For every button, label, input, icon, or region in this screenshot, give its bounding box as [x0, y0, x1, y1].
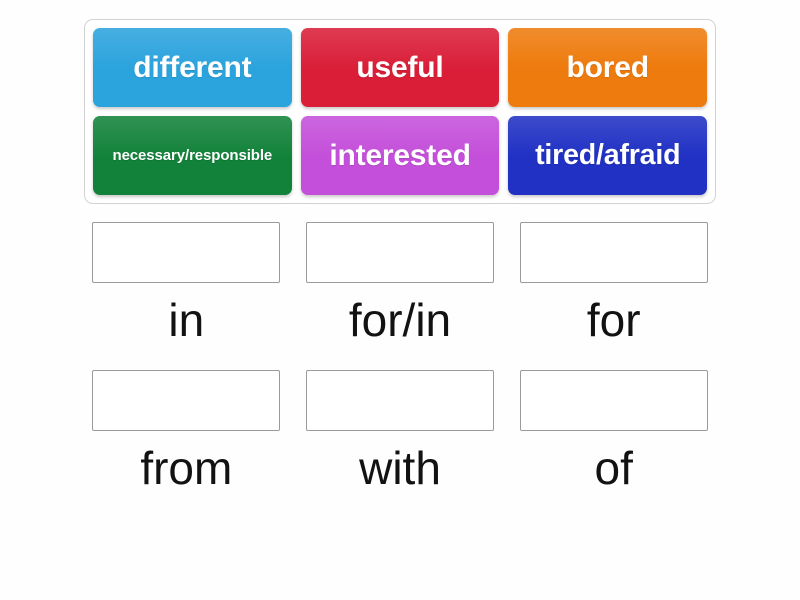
answer-label: for	[587, 296, 641, 344]
word-tile-label: useful	[356, 53, 443, 83]
word-tile-useful[interactable]: useful	[301, 28, 500, 107]
answer-slot-of: of	[511, 370, 716, 492]
word-bank-panel: different useful bored necessary/respons…	[84, 19, 716, 204]
drop-zone[interactable]	[92, 370, 280, 431]
word-tile-label: tired/afraid	[535, 141, 680, 170]
word-tile-tired-afraid[interactable]: tired/afraid	[508, 116, 707, 195]
answer-slot-with: with	[298, 370, 503, 492]
word-tile-interested[interactable]: interested	[301, 116, 500, 195]
drop-zone[interactable]	[92, 222, 280, 283]
drop-zone[interactable]	[306, 222, 494, 283]
word-tile-bored[interactable]: bored	[508, 28, 707, 107]
answer-slot-for-in: for/in	[298, 222, 503, 344]
answer-row: in for/in for	[84, 222, 716, 344]
answer-row: from with of	[84, 370, 716, 492]
answer-label: with	[359, 444, 441, 492]
answer-label: for/in	[349, 296, 451, 344]
answer-area: in for/in for from with of	[84, 222, 716, 493]
word-bank-row: necessary/responsible interested tired/a…	[93, 116, 707, 195]
word-tile-label: interested	[329, 141, 470, 171]
drop-zone[interactable]	[520, 222, 708, 283]
answer-label: in	[168, 296, 204, 344]
word-tile-label: necessary/responsible	[113, 148, 273, 163]
drop-zone[interactable]	[520, 370, 708, 431]
answer-label: of	[594, 444, 632, 492]
answer-slot-for: for	[511, 222, 716, 344]
answer-label: from	[140, 444, 232, 492]
word-bank-row: different useful bored	[93, 28, 707, 107]
word-tile-label: bored	[567, 53, 649, 83]
drop-zone[interactable]	[306, 370, 494, 431]
word-tile-different[interactable]: different	[93, 28, 292, 107]
answer-slot-from: from	[84, 370, 289, 492]
word-tile-label: different	[133, 53, 251, 83]
word-tile-necessary-responsible[interactable]: necessary/responsible	[93, 116, 292, 195]
answer-slot-in: in	[84, 222, 289, 344]
